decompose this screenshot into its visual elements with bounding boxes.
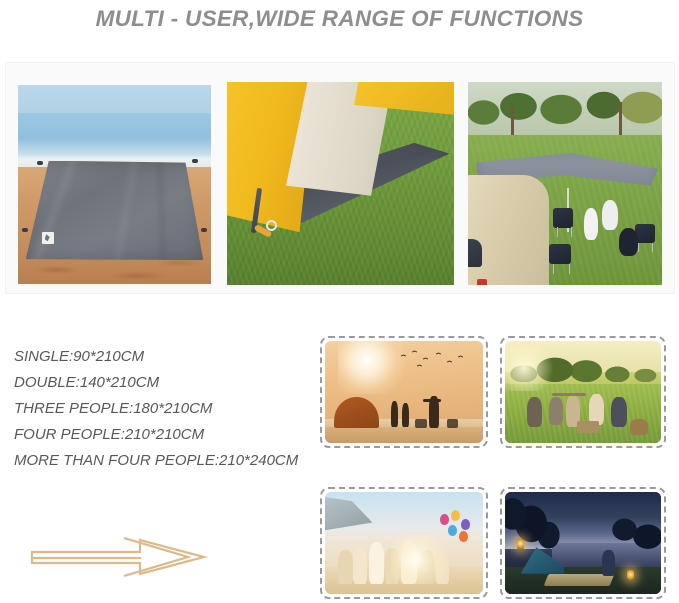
picnic-friends-photo[interactable] bbox=[500, 336, 666, 448]
raised-arms bbox=[552, 393, 586, 396]
bird-icon bbox=[401, 355, 406, 358]
lantern-icon bbox=[627, 570, 634, 580]
photo-frame bbox=[505, 341, 661, 443]
lantern-icon bbox=[517, 539, 524, 549]
bird-icon bbox=[436, 353, 441, 356]
balloon bbox=[461, 519, 470, 530]
person-seated bbox=[602, 550, 615, 576]
bird-icon bbox=[458, 356, 463, 359]
bird-icon bbox=[447, 361, 452, 364]
balloon bbox=[459, 531, 468, 542]
beach-party-photo[interactable] bbox=[320, 487, 488, 599]
person-silhouette bbox=[402, 403, 409, 427]
camp-stool bbox=[415, 419, 427, 428]
photo-frame bbox=[505, 492, 661, 594]
picnic-basket bbox=[630, 419, 648, 435]
orange-tent bbox=[334, 397, 378, 428]
camp-stool bbox=[447, 419, 458, 428]
bird-icon bbox=[417, 365, 422, 368]
picnic-scene bbox=[505, 341, 661, 443]
photo-frame bbox=[325, 341, 483, 443]
bird-icon bbox=[412, 351, 417, 354]
lifestyle-gallery bbox=[0, 0, 679, 603]
person-seated bbox=[527, 397, 542, 427]
night-camp-scene bbox=[505, 492, 661, 594]
person bbox=[353, 546, 367, 584]
sunset-tent-photo[interactable] bbox=[320, 336, 488, 448]
photo-frame bbox=[325, 492, 483, 594]
person bbox=[338, 550, 353, 584]
raised-arms bbox=[423, 399, 441, 402]
person-silhouette bbox=[391, 401, 398, 427]
person-seated bbox=[589, 394, 604, 425]
picnic-table bbox=[577, 421, 599, 433]
night-lakeside-photo[interactable] bbox=[500, 487, 666, 599]
beach-party-scene bbox=[325, 492, 483, 594]
person-seated bbox=[549, 397, 563, 425]
person-seated bbox=[611, 397, 627, 427]
person bbox=[369, 542, 384, 584]
sun-flare bbox=[391, 535, 454, 584]
sun-flare bbox=[505, 345, 558, 391]
sun-glow bbox=[338, 341, 411, 394]
sunset-scene bbox=[325, 341, 483, 443]
ground bbox=[325, 427, 483, 443]
bird-icon bbox=[423, 358, 428, 361]
